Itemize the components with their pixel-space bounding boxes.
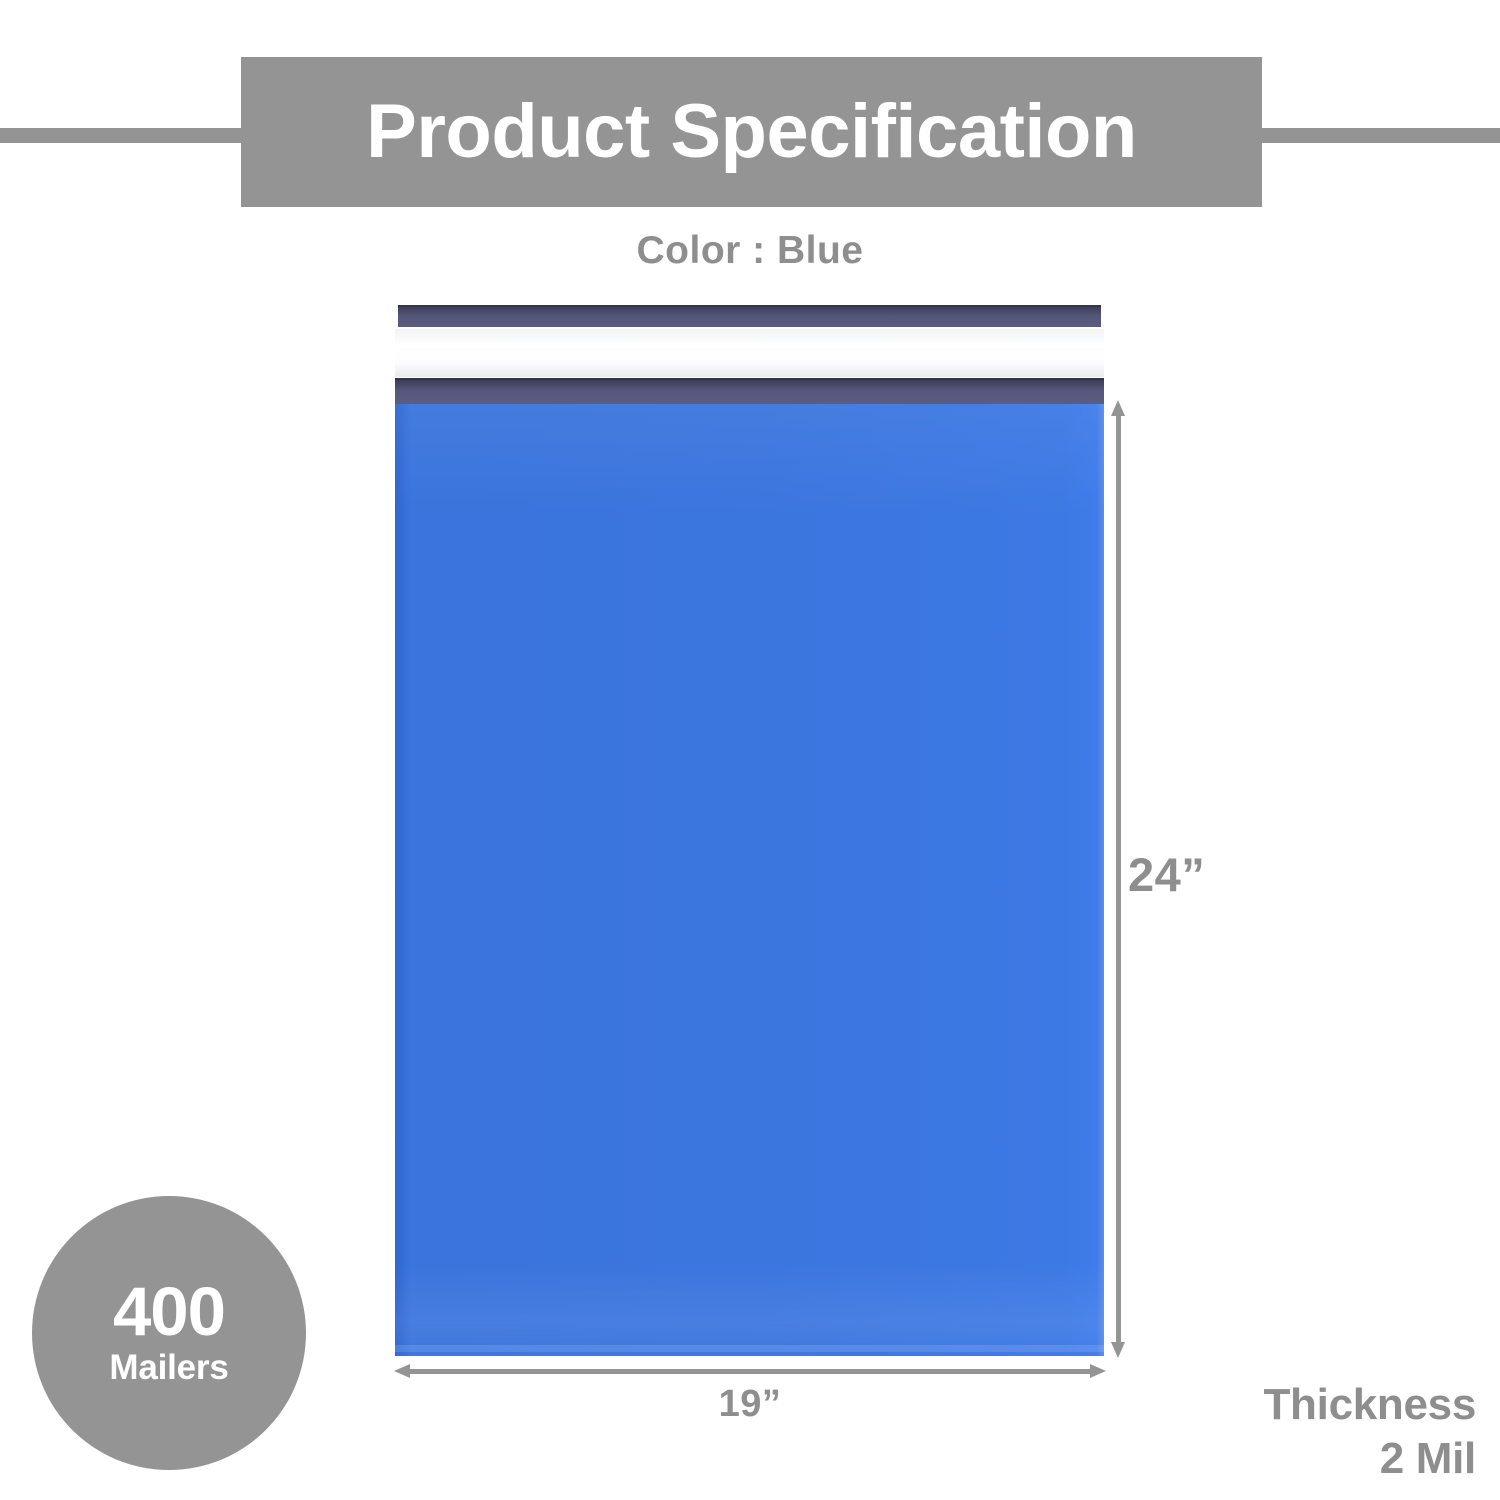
poly-mailer-bag-image: [395, 303, 1104, 1356]
arrow-shaft: [408, 1369, 1092, 1374]
bag-flap-top-strip: [398, 305, 1101, 327]
width-dimension-arrow: [394, 1364, 1106, 1378]
thickness-info: Thickness 2 Mil: [1263, 1378, 1476, 1485]
product-specification-page: Product Specification Color : Blue 24” 1…: [0, 0, 1500, 1500]
quantity-unit-label: Mailers: [109, 1349, 228, 1388]
arrow-down-icon: [1111, 1342, 1125, 1358]
width-dimension-label: 19”: [394, 1383, 1106, 1426]
arrow-shaft: [1116, 414, 1121, 1344]
bag-body-sheen: [395, 404, 1104, 1356]
page-title: Product Specification: [366, 94, 1137, 170]
product-color-label: Color : Blue: [0, 229, 1500, 273]
quantity-badge: 400 Mailers: [32, 1196, 306, 1470]
quantity-count: 400: [113, 1279, 225, 1345]
bag-body: [395, 404, 1104, 1356]
bag-flap-bottom-strip: [395, 378, 1104, 406]
thickness-value: 2 Mil: [1263, 1432, 1476, 1486]
bag-bottom-seam: [395, 1345, 1104, 1352]
thickness-title: Thickness: [1263, 1378, 1476, 1432]
height-dimension-label: 24”: [1128, 847, 1205, 902]
arrow-right-icon: [1090, 1364, 1106, 1378]
header-banner: Product Specification: [241, 57, 1262, 207]
bag-adhesive-seal-strip: [395, 329, 1104, 377]
height-dimension-arrow: [1111, 400, 1125, 1358]
